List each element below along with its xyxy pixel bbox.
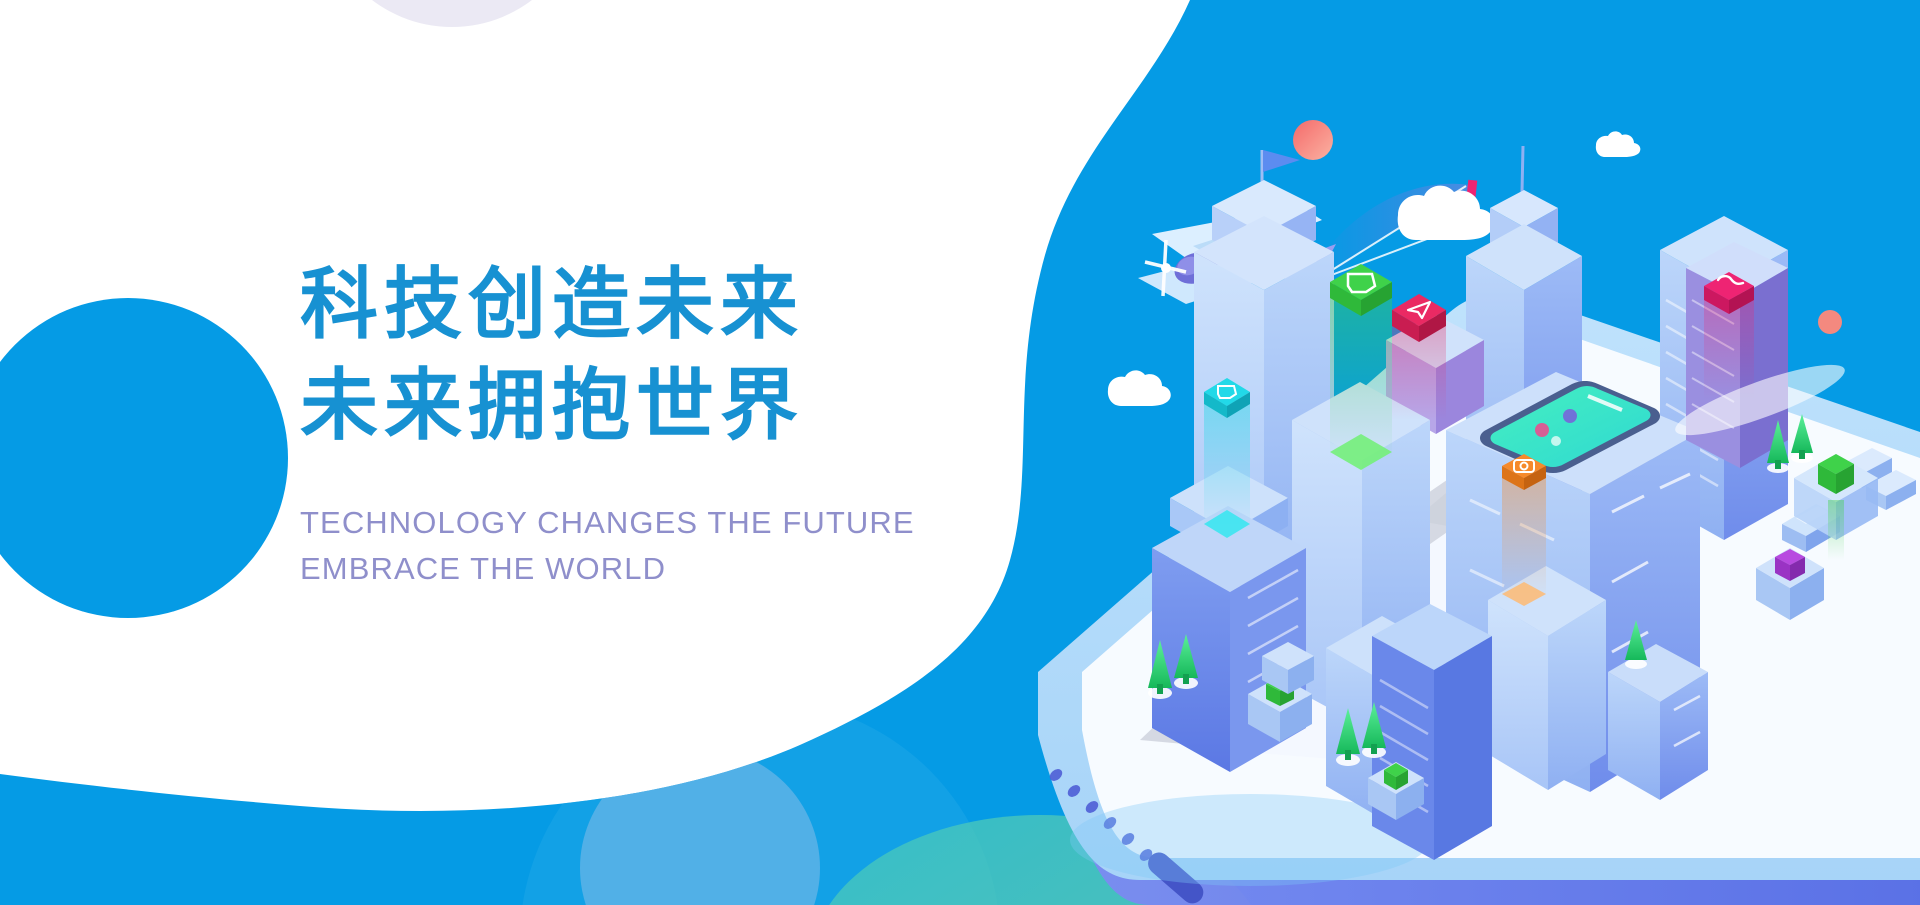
marker-green-chat — [1330, 264, 1392, 470]
marker-cyan-chat — [1204, 378, 1250, 538]
page-subtitle: TECHNOLOGY CHANGES THE FUTURE EMBRACE TH… — [300, 500, 1000, 592]
dot-pink-icon — [1818, 310, 1842, 334]
marker-pink-send — [1392, 294, 1446, 420]
marker-orange-camera — [1502, 454, 1546, 606]
balloon-red-icon — [1293, 120, 1333, 160]
hero-banner: 科技创造未来 未来拥抱世界 TECHNOLOGY CHANGES THE FUT… — [0, 0, 1920, 905]
subtitle-line-2: EMBRACE THE WORLD — [300, 546, 1000, 592]
page-title: 科技创造未来 未来拥抱世界 — [300, 255, 1000, 458]
headline-line-2: 未来拥抱世界 — [300, 356, 1000, 457]
cloud-small-icon — [1108, 370, 1171, 406]
headline-line-1: 科技创造未来 — [300, 255, 1000, 356]
building-right-front — [1608, 644, 1708, 800]
cloud-tiny-icon — [1596, 131, 1641, 157]
flag-blue-icon — [1263, 150, 1300, 172]
marker-pink-phone — [1704, 272, 1754, 400]
hero-copy: 科技创造未来 未来拥抱世界 TECHNOLOGY CHANGES THE FUT… — [300, 255, 1000, 592]
subtitle-line-1: TECHNOLOGY CHANGES THE FUTURE — [300, 500, 1000, 546]
